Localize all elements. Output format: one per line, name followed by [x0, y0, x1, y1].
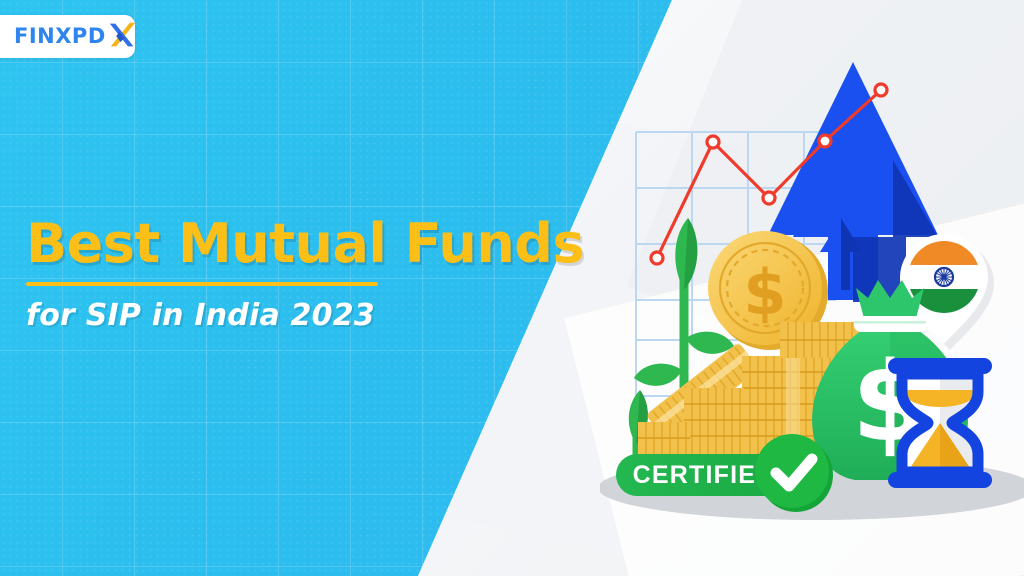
page-subtitle: for SIP in India 2023 — [26, 298, 566, 333]
certified-badge-label: CERTIFIED — [633, 461, 776, 489]
coin-stack-short — [638, 422, 690, 456]
headline-block: Best Mutual Funds for SIP in India 2023 — [26, 216, 566, 333]
logo[interactable]: FINXPD — [0, 15, 135, 58]
logo-wordmark: FINXPD — [14, 26, 106, 47]
banner-root: FINXPD Best Mutual Funds for SIP in Indi… — [0, 0, 1024, 576]
page-title: Best Mutual Funds — [26, 216, 566, 273]
coin-stack-mid — [684, 388, 744, 456]
finance-illustration: $ — [600, 40, 1024, 560]
logo-x-mark-icon — [108, 20, 135, 52]
svg-text:$: $ — [743, 256, 786, 329]
title-underline-rule — [26, 282, 378, 286]
